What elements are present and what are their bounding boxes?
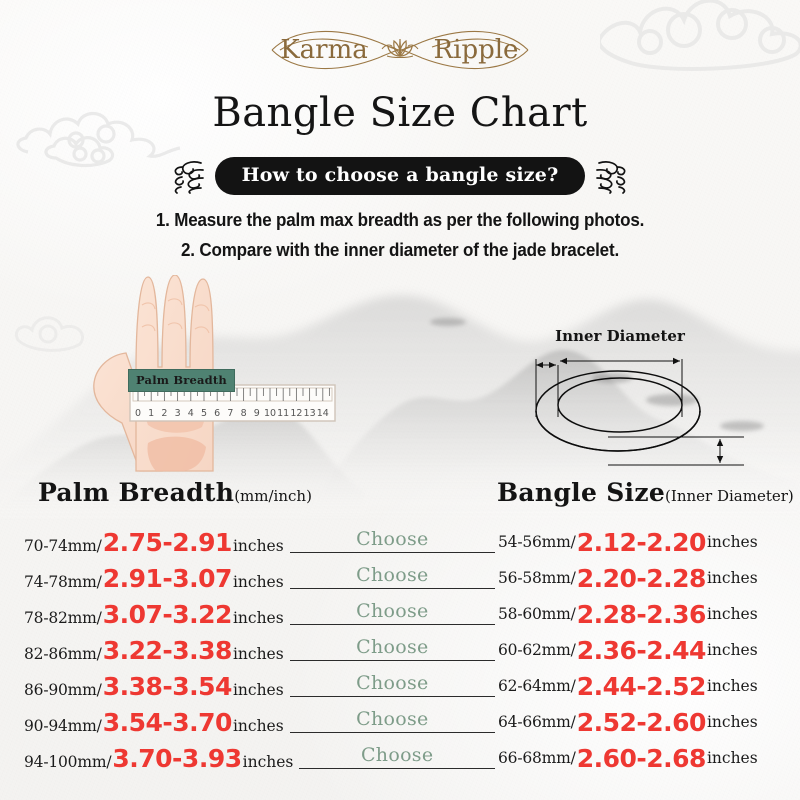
choose-connector[interactable]: Choose: [299, 740, 495, 776]
choose-label[interactable]: Choose: [290, 528, 495, 550]
table-row: 56-58mm/2.20-2.28inches: [486, 560, 800, 596]
choose-label[interactable]: Choose: [290, 708, 495, 730]
palm-inch-range: 3.70-3.93: [112, 744, 241, 773]
choose-label[interactable]: Choose: [299, 744, 495, 766]
bangle-inch-range: 2.28-2.36: [577, 600, 706, 629]
instruction-steps: 1. Measure the palm max breadth as per t…: [0, 205, 800, 265]
bangle-size-heading-title: Bangle Size: [497, 478, 665, 507]
table-row[interactable]: 74-78mm/2.91-3.07inchesChoose: [0, 560, 495, 596]
choose-label[interactable]: Choose: [290, 600, 495, 622]
palm-inch-range: 3.54-3.70: [103, 708, 232, 737]
palm-mm-range: 94-100mm/: [24, 753, 111, 771]
palm-inch-range: 3.07-3.22: [103, 600, 232, 629]
bangle-unit-label: inches: [707, 677, 758, 695]
choose-connector[interactable]: Choose: [290, 560, 495, 596]
choose-connector[interactable]: Choose: [290, 632, 495, 668]
connector-line: [290, 660, 495, 661]
brand-logo-svg: Karma Ripple: [250, 20, 550, 78]
table-row: 60-62mm/2.36-2.44inches: [486, 632, 800, 668]
ruler-tick-label: 8: [241, 408, 247, 419]
cloud-motif-icon: [14, 300, 104, 360]
bangle-ring-cross-section-icon: Inner Diameter: [498, 325, 758, 475]
bangle-size-heading-unit: (Inner Diameter): [665, 487, 794, 505]
connector-line: [290, 624, 495, 625]
palm-breadth-heading-title: Palm Breadth: [38, 478, 234, 507]
palm-mm-range: 74-78mm/: [24, 573, 102, 591]
ruler-tick-label: 12: [290, 408, 302, 419]
table-row[interactable]: 78-82mm/3.07-3.22inchesChoose: [0, 596, 495, 632]
palm-unit-label: inches: [233, 573, 284, 591]
ruler-tick-label: 7: [227, 408, 233, 419]
bangle-mm-range: 56-58mm/: [498, 569, 576, 587]
bangle-inch-range: 2.12-2.20: [577, 528, 706, 557]
ruler-tick-label: 13: [304, 408, 316, 419]
choose-connector[interactable]: Choose: [290, 704, 495, 740]
palm-mm-range: 86-90mm/: [24, 681, 102, 699]
brand-logo: Karma Ripple: [0, 18, 800, 80]
table-row[interactable]: 94-100mm/3.70-3.93inchesChoose: [0, 740, 495, 776]
palm-mm-range: 78-82mm/: [24, 609, 102, 627]
bangle-inch-range: 2.52-2.60: [577, 708, 706, 737]
bangle-inch-range: 2.60-2.68: [577, 744, 706, 773]
subtitle-pill: How to choose a bangle size?: [215, 157, 586, 195]
bangle-mm-range: 66-68mm/: [498, 749, 576, 767]
palm-breadth-section-heading: Palm Breadth(mm/inch): [38, 478, 312, 507]
subtitle-banner: How to choose a bangle size?: [0, 155, 800, 197]
table-row[interactable]: 70-74mm/2.75-2.91inchesChoose: [0, 524, 495, 560]
palm-unit-label: inches: [233, 681, 284, 699]
ruler-tick-label: 6: [214, 408, 220, 419]
connector-line: [290, 588, 495, 589]
brand-name-left: Karma: [280, 35, 368, 65]
connector-line: [290, 732, 495, 733]
table-row: 66-68mm/2.60-2.68inches: [486, 740, 800, 776]
bangle-unit-label: inches: [707, 569, 758, 587]
page-title: Bangle Size Chart: [0, 90, 800, 136]
brand-name-right: Ripple: [434, 35, 519, 65]
bangle-unit-label: inches: [707, 749, 758, 767]
table-row: 58-60mm/2.28-2.36inches: [486, 596, 800, 632]
ruler-tick-label: 11: [277, 408, 289, 419]
palm-breadth-table: 70-74mm/2.75-2.91inchesChoose74-78mm/2.9…: [0, 524, 495, 776]
bangle-mm-range: 62-64mm/: [498, 677, 576, 695]
choose-connector[interactable]: Choose: [290, 524, 495, 560]
choose-label[interactable]: Choose: [290, 564, 495, 586]
ruler-tick-label: 1: [148, 408, 154, 419]
palm-mm-range: 82-86mm/: [24, 645, 102, 663]
table-row[interactable]: 86-90mm/3.38-3.54inchesChoose: [0, 668, 495, 704]
ruler-tick-label: 0: [135, 408, 141, 419]
palm-inch-range: 3.38-3.54: [103, 672, 232, 701]
table-row: 64-66mm/2.52-2.60inches: [486, 704, 800, 740]
connector-line: [299, 768, 495, 769]
chinese-cloud-flourish-icon: [171, 157, 207, 195]
choose-connector[interactable]: Choose: [290, 668, 495, 704]
choose-label[interactable]: Choose: [290, 672, 495, 694]
bangle-unit-label: inches: [707, 533, 758, 551]
instruction-step-2: 2. Compare with the inner diameter of th…: [32, 235, 768, 265]
bangle-unit-label: inches: [707, 605, 758, 623]
choose-label[interactable]: Choose: [290, 636, 495, 658]
palm-unit-label: inches: [233, 717, 284, 735]
choose-connector[interactable]: Choose: [290, 596, 495, 632]
ruler-tick-label: 14: [317, 408, 329, 419]
instruction-step-1: 1. Measure the palm max breadth as per t…: [32, 205, 768, 235]
ruler-tick-label: 3: [175, 408, 181, 419]
bangle-mm-range: 54-56mm/: [498, 533, 576, 551]
palm-unit-label: inches: [233, 645, 284, 663]
connector-line: [290, 552, 495, 553]
bangle-mm-range: 58-60mm/: [498, 605, 576, 623]
palm-inch-range: 3.22-3.38: [103, 636, 232, 665]
bangle-size-section-heading: Bangle Size(Inner Diameter): [497, 478, 794, 507]
ruler-tick-label: 4: [188, 408, 194, 419]
bangle-mm-range: 64-66mm/: [498, 713, 576, 731]
bangle-unit-label: inches: [707, 641, 758, 659]
palm-mm-range: 90-94mm/: [24, 717, 102, 735]
ruler-tick-label: 5: [201, 408, 207, 419]
bangle-size-chart-page: Karma Ripple Bangle Size Chart: [0, 0, 800, 800]
lotus-flower-icon: [382, 39, 418, 58]
palm-inch-range: 2.75-2.91: [103, 528, 232, 557]
bangle-size-table: 54-56mm/2.12-2.20inches56-58mm/2.20-2.28…: [486, 524, 800, 776]
palm-inch-range: 2.91-3.07: [103, 564, 232, 593]
palm-unit-label: inches: [243, 753, 294, 771]
chinese-cloud-flourish-icon: [593, 157, 629, 195]
palm-breadth-label: Palm Breadth: [128, 369, 235, 392]
palm-unit-label: inches: [233, 537, 284, 555]
ruler-tick-label: 10: [264, 408, 276, 419]
ruler-tick-label: 9: [254, 408, 260, 419]
palm-mm-range: 70-74mm/: [24, 537, 102, 555]
connector-line: [290, 696, 495, 697]
bangle-unit-label: inches: [707, 713, 758, 731]
bangle-inch-range: 2.20-2.28: [577, 564, 706, 593]
ruler-tick-label: 2: [161, 408, 167, 419]
bangle-mm-range: 60-62mm/: [498, 641, 576, 659]
bangle-inch-range: 2.44-2.52: [577, 672, 706, 701]
palm-unit-label: inches: [233, 609, 284, 627]
table-row[interactable]: 90-94mm/3.54-3.70inchesChoose: [0, 704, 495, 740]
inner-diameter-caption: Inner Diameter: [555, 327, 686, 345]
palm-breadth-heading-unit: (mm/inch): [234, 487, 312, 505]
bangle-inch-range: 2.36-2.44: [577, 636, 706, 665]
table-row[interactable]: 82-86mm/3.22-3.38inchesChoose: [0, 632, 495, 668]
table-row: 54-56mm/2.12-2.20inches: [486, 524, 800, 560]
table-row: 62-64mm/2.44-2.52inches: [486, 668, 800, 704]
